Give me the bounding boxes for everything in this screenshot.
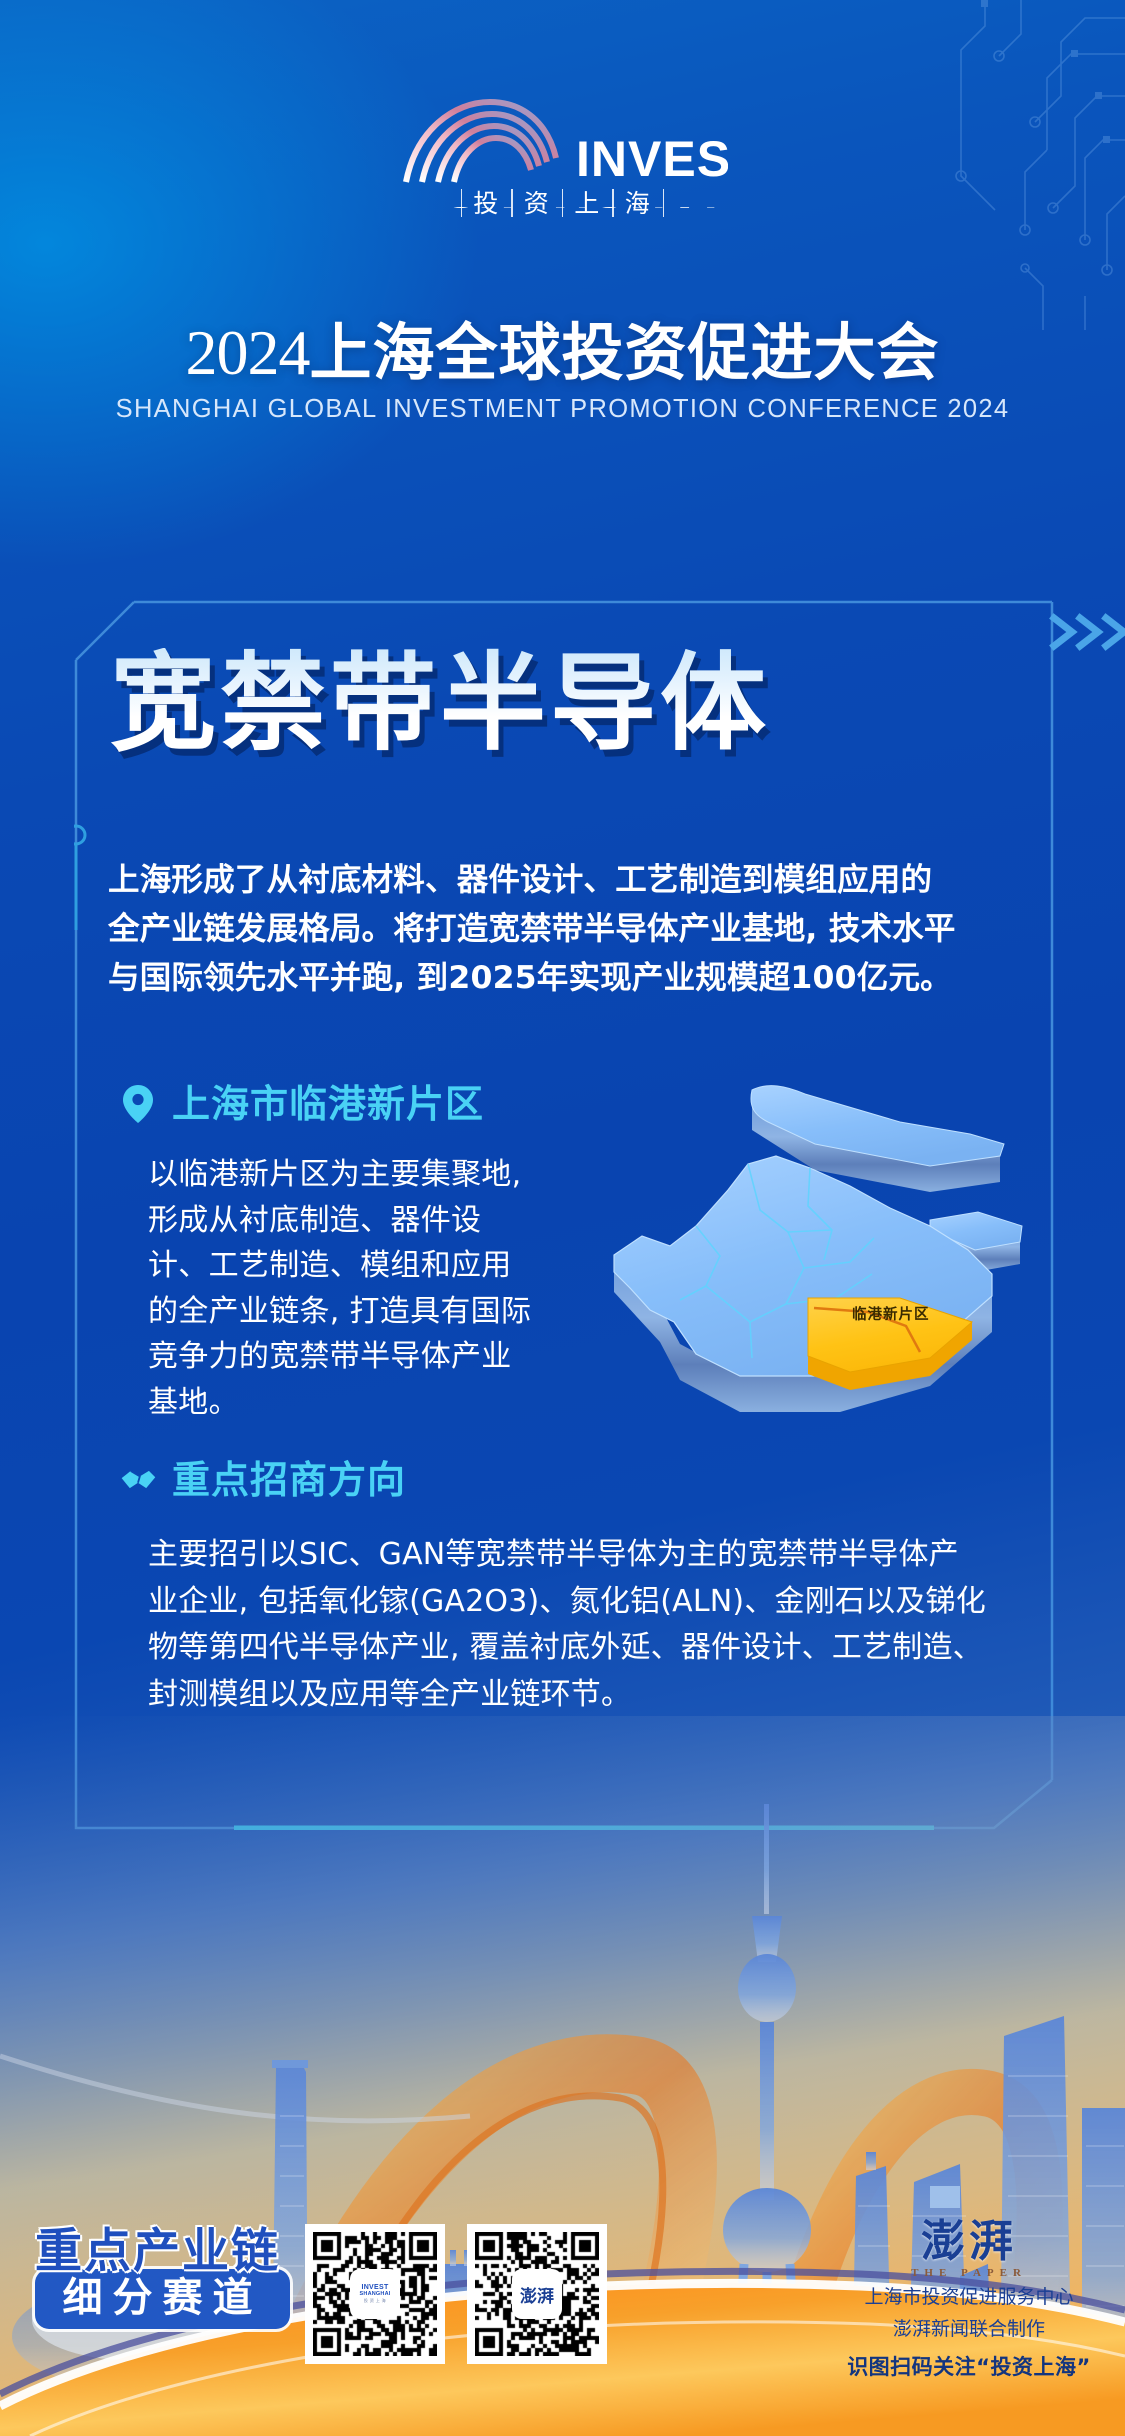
footer-badge-bottom-text: 细分赛道	[49, 2278, 276, 2318]
section-heading-location-text: 上海市临港新片区	[172, 1085, 484, 1123]
the-paper-qr[interactable]: 澎湃	[467, 2224, 607, 2364]
footer-badge-top-text: 重点产业链	[35, 2228, 290, 2275]
shanghai-map-illustration: 临港新片区	[600, 1060, 1040, 1450]
section-heading-location: 上海市临港新片区	[118, 1082, 484, 1126]
qr-embedded-logo: 澎湃	[514, 2271, 560, 2317]
qr-logo-text: 澎湃	[520, 2282, 554, 2307]
handshake-icon	[118, 1458, 158, 1502]
credit-line-2: 澎湃新闻联合制作	[839, 2317, 1099, 2343]
logo-cn-char-4: 海	[614, 191, 663, 216]
qr-logo-line2: SHANGHAI	[360, 2291, 391, 2297]
logo-cn-char-1: 投	[462, 191, 511, 216]
conference-title-cn: 2024上海全球投资促进大会	[0, 302, 1125, 392]
qr-logo-line3: 投 资 上 海	[364, 2298, 386, 2304]
conference-title-en: SHANGHAI GLOBAL INVESTMENT PROMOTION CON…	[0, 395, 1125, 424]
section-body-location: 以临港新片区为主要集聚地, 形成从衬底制造、器件设计、工艺制造、模组和应用的全产…	[148, 1152, 540, 1426]
section-heading-investment-text: 重点招商方向	[172, 1461, 406, 1499]
map-svg	[600, 1060, 1040, 1450]
qr-logo-line1: INVEST	[361, 2284, 388, 2292]
lead-paragraph: 上海形成了从衬底材料、器件设计、工艺制造到模组应用的全产业链发展格局。将打造宽禁…	[108, 856, 956, 1003]
footer-badge-box: 细分赛道	[35, 2269, 290, 2329]
qr-code-group: INVEST SHANGHAI 投 资 上 海 澎湃	[305, 2224, 607, 2364]
section-heading-investment: 重点招商方向	[118, 1458, 406, 1502]
credit-line-3: 识图扫码关注“投资上海”	[839, 2351, 1099, 2381]
page-headline: 宽禁带半导体	[110, 648, 1050, 759]
logo-cn-char-2: 资	[513, 191, 562, 216]
svg-text:INVEST: INVEST	[576, 131, 728, 187]
qr-embedded-logo: INVEST SHANGHAI 投 资 上 海	[352, 2271, 398, 2317]
footer-badge: 重点产业链 细分赛道	[35, 2228, 290, 2329]
invest-shanghai-logo: INVEST SHANGHAI 投 资 上 海	[0, 96, 1125, 217]
credit-line-1: 上海市投资促进服务中心	[839, 2285, 1099, 2311]
invest-shanghai-qr[interactable]: INVEST SHANGHAI 投 资 上 海	[305, 2224, 445, 2364]
logo-chinese-subtitle: 投 资 上 海	[0, 189, 1125, 217]
section-body-investment: 主要招引以SIC、GAN等宽禁带半导体为主的宽禁带半导体产业企业, 包括氧化镓(…	[148, 1532, 988, 1718]
location-pin-icon	[118, 1082, 158, 1126]
credit-block: 澎湃 THE PAPER 上海市投资促进服务中心 澎湃新闻联合制作 识图扫码关注…	[839, 2220, 1099, 2381]
poster-canvas: INVEST SHANGHAI 投 资 上 海 2024上海全球投资促进大会 S…	[0, 0, 1125, 2436]
conference-title-text: 上海全球投资促进大会	[309, 316, 939, 389]
logo-divider	[663, 189, 665, 217]
logo-cn-char-3: 上	[563, 191, 612, 216]
footer-bar: 重点产业链 细分赛道 INVEST SHANGHAI 投 资 上 海 澎湃	[0, 2206, 1125, 2436]
conference-title-year: 2024	[185, 317, 309, 388]
the-paper-logo-en: THE PAPER	[839, 2267, 1099, 2279]
the-paper-logo: 澎湃	[839, 2220, 1099, 2264]
map-region-label: 临港新片区	[852, 1303, 930, 1324]
